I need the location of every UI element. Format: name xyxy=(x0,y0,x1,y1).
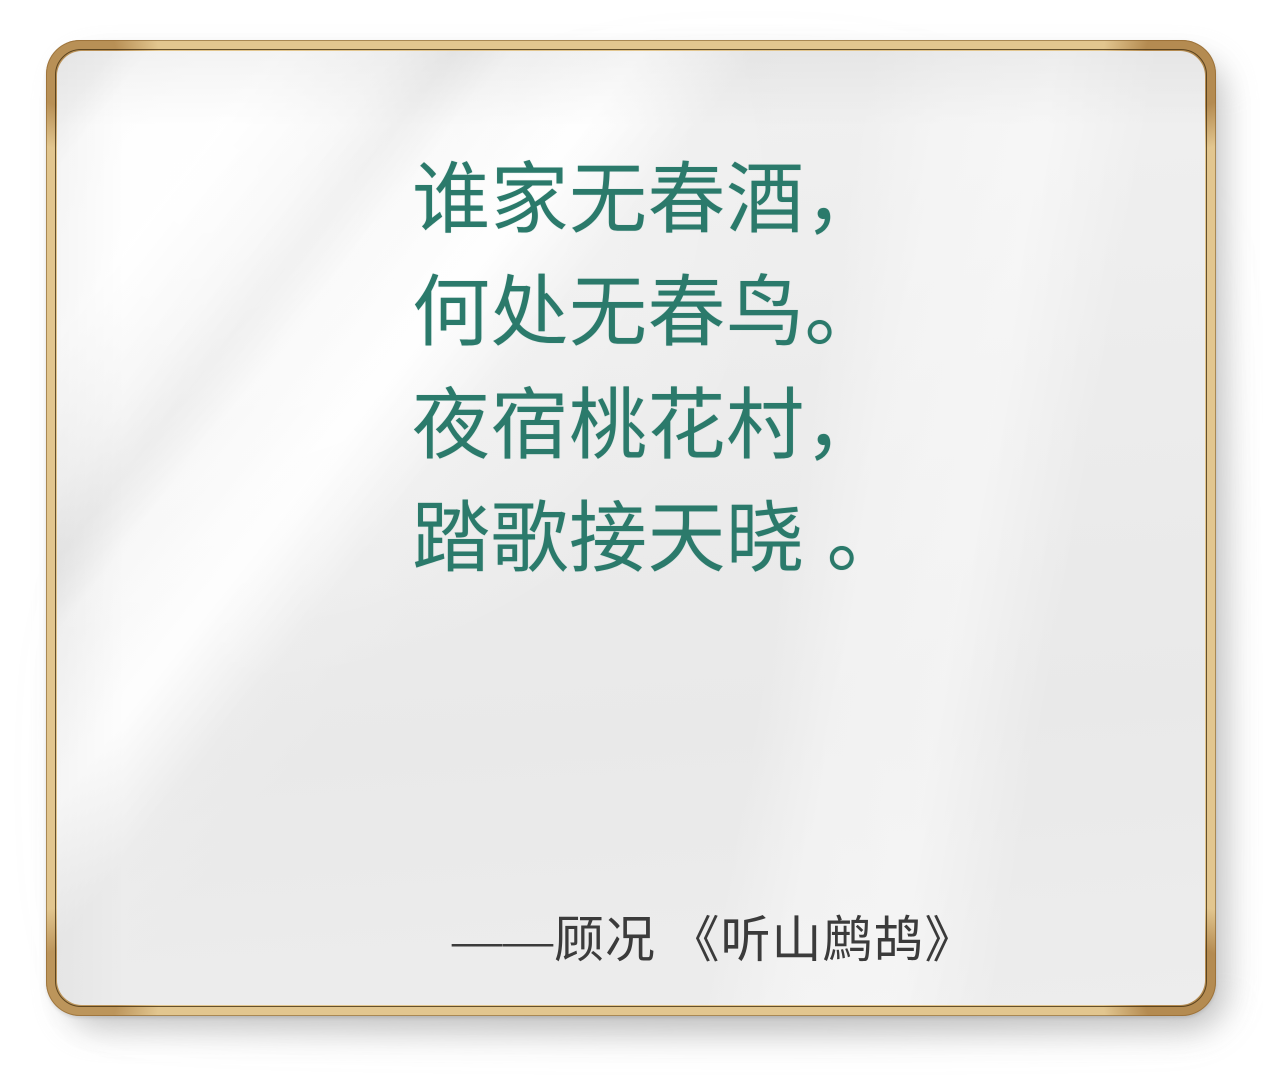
poem-line-3: 夜宿桃花村， xyxy=(412,369,932,482)
screenshot-stage: 谁家无春酒， 何处无春鸟。 夜宿桃花村， 踏歌接天晓 。 ——顾况 《听山鹧鸪》 xyxy=(0,0,1263,1080)
poem-line-1: 谁家无春酒， xyxy=(412,143,932,256)
poem-attribution: ——顾况 《听山鹧鸪》 xyxy=(452,909,976,971)
poem-panel: 谁家无春酒， 何处无春鸟。 夜宿桃花村， 踏歌接天晓 。 ——顾况 《听山鹧鸪》 xyxy=(57,51,1205,1005)
poem-block: 谁家无春酒， 何处无春鸟。 夜宿桃花村， 踏歌接天晓 。 xyxy=(412,143,932,595)
poem-line-2: 何处无春鸟。 xyxy=(412,256,932,369)
golden-frame-border: 谁家无春酒， 何处无春鸟。 夜宿桃花村， 踏歌接天晓 。 ——顾况 《听山鹧鸪》 xyxy=(46,40,1216,1016)
panel-content: 谁家无春酒， 何处无春鸟。 夜宿桃花村， 踏歌接天晓 。 ——顾况 《听山鹧鸪》 xyxy=(57,51,1205,1005)
poem-line-4: 踏歌接天晓 。 xyxy=(412,482,932,595)
